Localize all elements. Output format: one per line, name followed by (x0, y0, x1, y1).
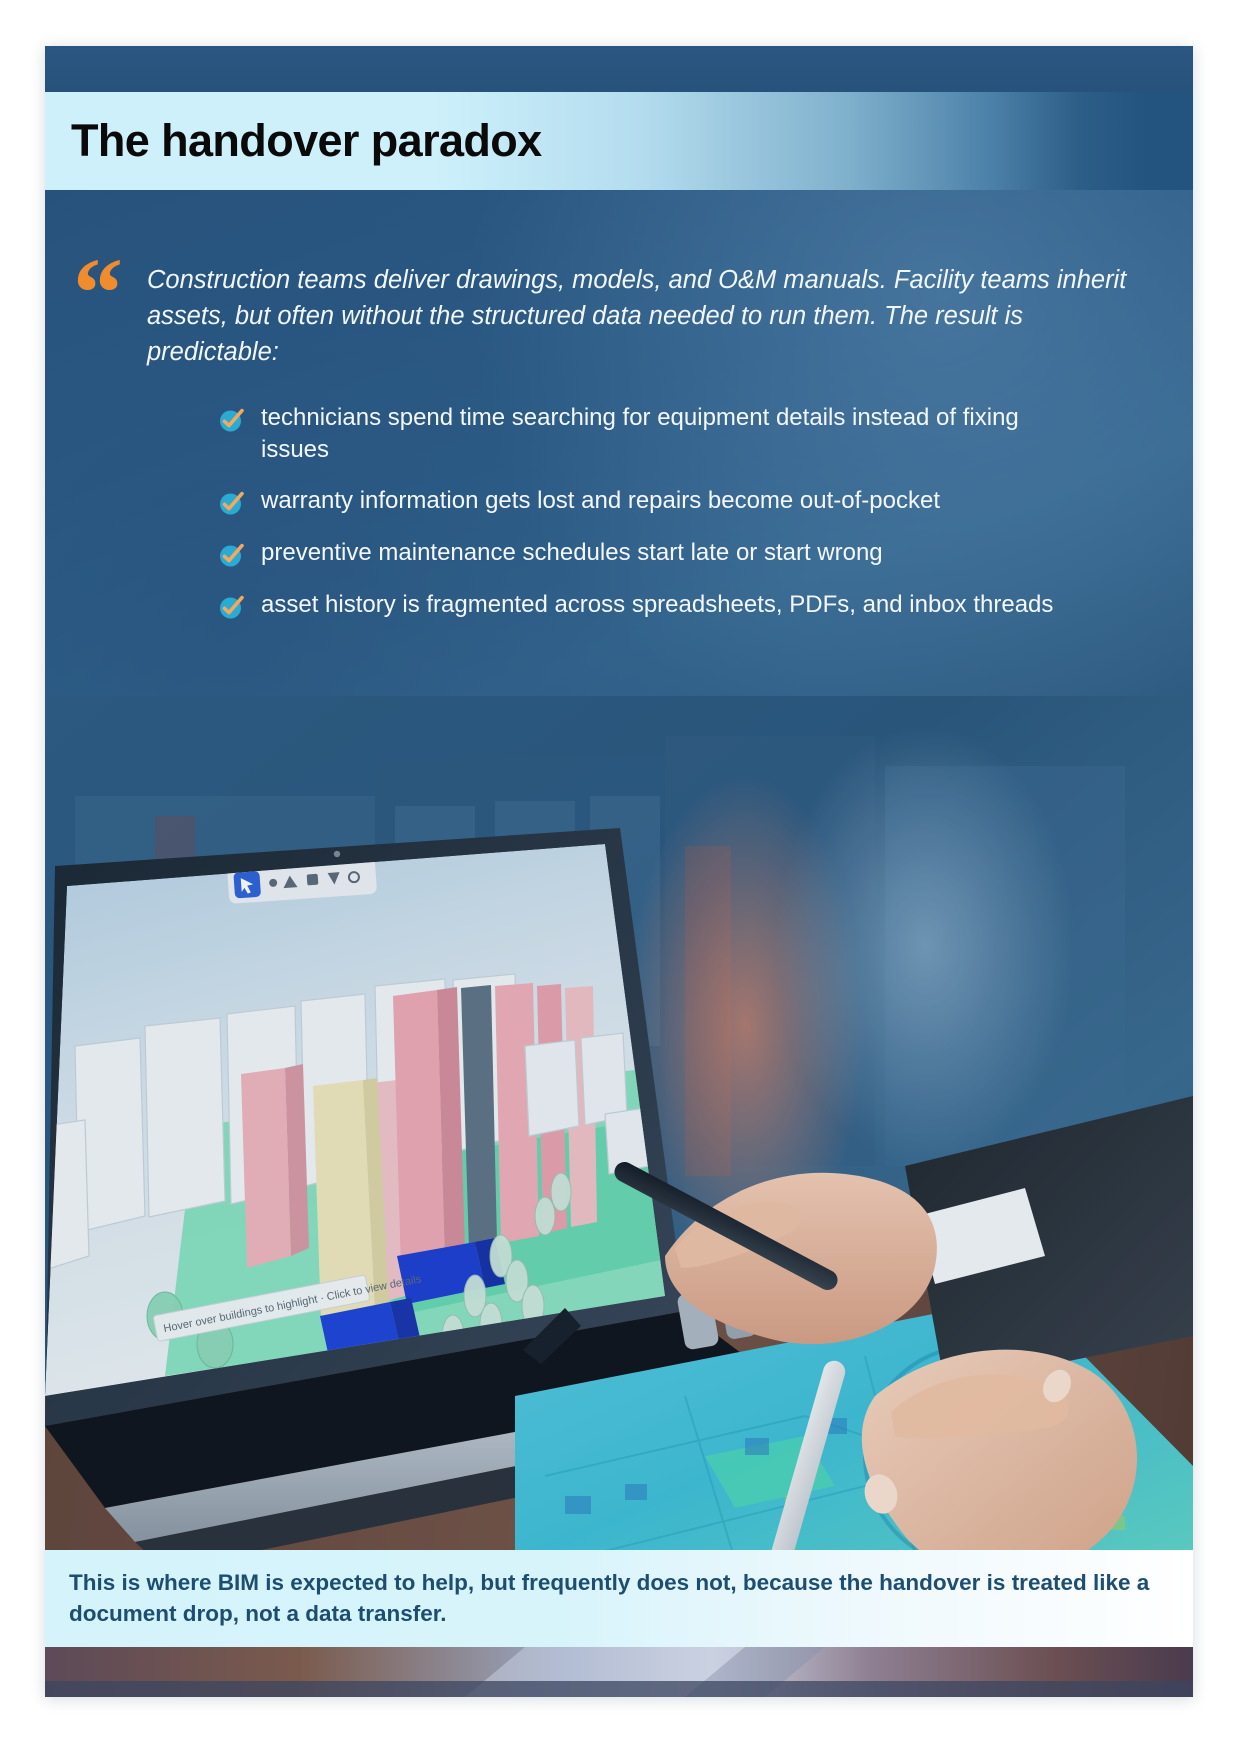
card-top-strip (45, 46, 1193, 92)
bottom-photo-strip (45, 1647, 1193, 1697)
page-title: The handover paradox (71, 115, 542, 167)
list-item: technicians spend time searching for equ… (217, 402, 1073, 466)
bim-photo: Hover over buildings to highlight · Clic… (45, 696, 1193, 1593)
list-item-label: preventive maintenance schedules start l… (261, 537, 1073, 569)
check-circle-icon (217, 540, 247, 570)
list-item-label: warranty information gets lost and repai… (261, 485, 1073, 517)
quote-mark-icon: “ (73, 254, 147, 332)
quote-text: Construction teams deliver drawings, mod… (147, 252, 1137, 371)
check-circle-icon (217, 592, 247, 622)
title-band: The handover paradox (45, 92, 1193, 190)
check-circle-icon (217, 488, 247, 518)
check-circle-icon (217, 405, 247, 435)
list-item: warranty information gets lost and repai… (217, 485, 1073, 518)
content-area: “ Construction teams deliver drawings, m… (45, 190, 1193, 696)
caption-band: This is where BIM is expected to help, b… (45, 1550, 1193, 1648)
bullet-list: technicians spend time searching for equ… (217, 402, 1073, 622)
quote-block: “ Construction teams deliver drawings, m… (73, 252, 1137, 371)
list-item: preventive maintenance schedules start l… (217, 537, 1073, 570)
list-item-label: technicians spend time searching for equ… (261, 402, 1073, 466)
caption-text: This is where BIM is expected to help, b… (69, 1568, 1163, 1629)
list-item: asset history is fragmented across sprea… (217, 589, 1073, 622)
list-item-label: asset history is fragmented across sprea… (261, 589, 1073, 621)
info-card: The handover paradox “ Construction team… (45, 46, 1193, 1697)
